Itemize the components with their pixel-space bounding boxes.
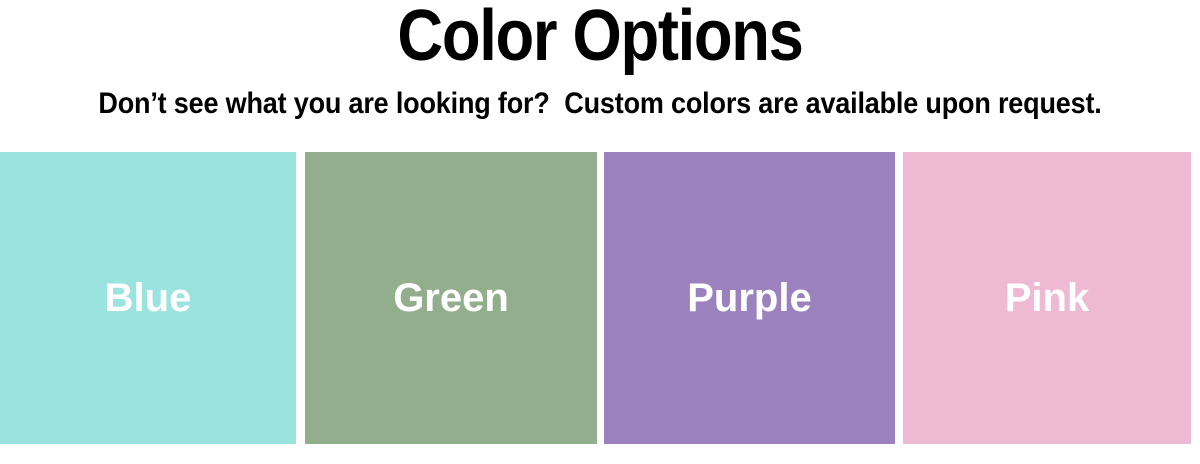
page-subtitle: Don’t see what you are looking for? Cust… bbox=[60, 86, 1140, 122]
color-swatch-green[interactable]: Green bbox=[305, 152, 597, 444]
color-swatch-label-pink: Pink bbox=[1005, 278, 1089, 318]
color-swatch-row: Blue Green Purple Pink bbox=[0, 152, 1200, 444]
color-swatch-pink[interactable]: Pink bbox=[903, 152, 1191, 444]
color-swatch-label-blue: Blue bbox=[105, 278, 192, 318]
color-swatch-label-green: Green bbox=[393, 278, 509, 318]
color-swatch-blue[interactable]: Blue bbox=[0, 152, 296, 444]
page-title: Color Options bbox=[72, 0, 1128, 76]
color-swatch-purple[interactable]: Purple bbox=[604, 152, 895, 444]
color-swatch-label-purple: Purple bbox=[687, 278, 811, 318]
color-options-page: Color Options Don’t see what you are loo… bbox=[0, 0, 1200, 464]
